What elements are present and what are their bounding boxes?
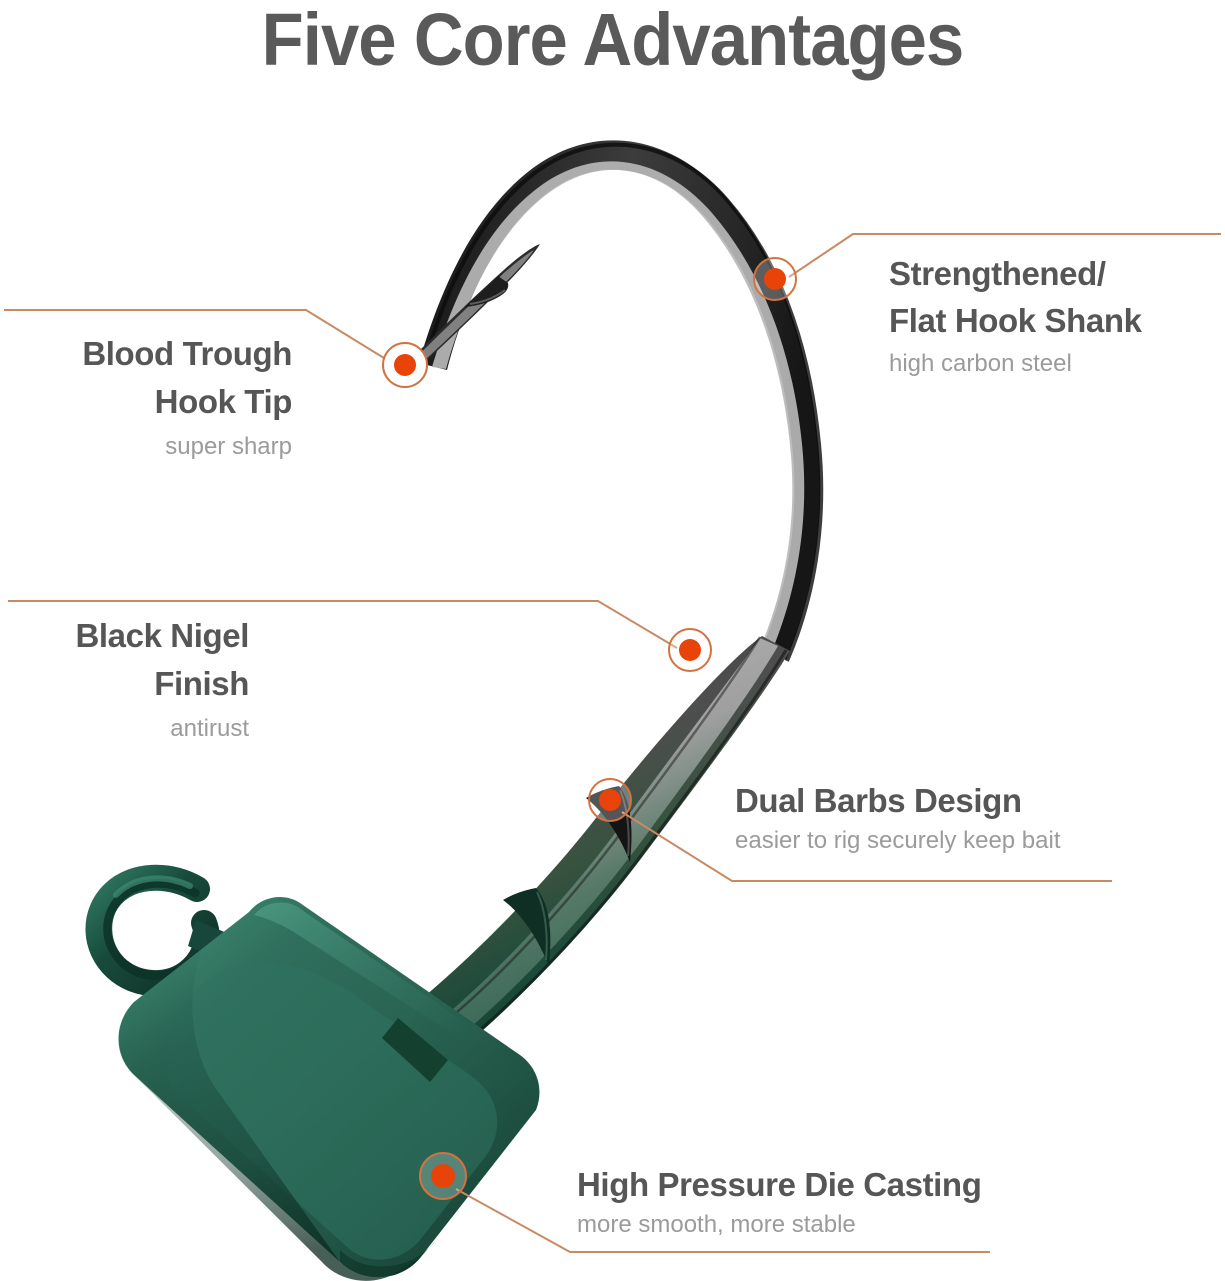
marker-blood-trough[interactable] <box>383 343 427 387</box>
callout-die-casting: High Pressure Die Casting more smooth, m… <box>577 1163 1007 1243</box>
callout-flat-shank: Strengthened/ Flat Hook Shank high carbo… <box>889 250 1225 384</box>
callout-title-line-2: Finish <box>0 660 249 708</box>
callout-dual-barbs: Dual Barbs Design easier to rig securely… <box>735 778 1125 859</box>
callout-subtitle: super sharp <box>0 426 292 468</box>
callout-title-line-2: Flat Hook Shank <box>889 297 1225 344</box>
infographic-canvas: Five Core Advantages <box>0 0 1225 1281</box>
callout-title-line-2: Hook Tip <box>0 378 292 426</box>
callout-black-nigel: Black Nigel Finish antirust <box>0 612 249 750</box>
callout-blood-trough: Blood Trough Hook Tip super sharp <box>0 330 292 468</box>
marker-black-nigel[interactable] <box>669 629 711 671</box>
callout-subtitle: antirust <box>0 708 249 750</box>
callout-title-line-1: Blood Trough <box>0 330 292 378</box>
marker-dual-barbs[interactable] <box>589 779 631 821</box>
callout-title-line-1: Strengthened/ <box>889 250 1225 297</box>
callout-title-line-1: Black Nigel <box>0 612 249 660</box>
callout-subtitle: high carbon steel <box>889 344 1225 384</box>
callout-subtitle: more smooth, more stable <box>577 1207 1007 1243</box>
callout-title-line-1: Dual Barbs Design <box>735 778 1125 823</box>
marker-die-casting[interactable] <box>420 1153 466 1199</box>
callout-title-line-1: High Pressure Die Casting <box>577 1163 1007 1207</box>
callout-subtitle: easier to rig securely keep bait <box>735 823 1125 859</box>
marker-flat-shank[interactable] <box>754 258 796 300</box>
